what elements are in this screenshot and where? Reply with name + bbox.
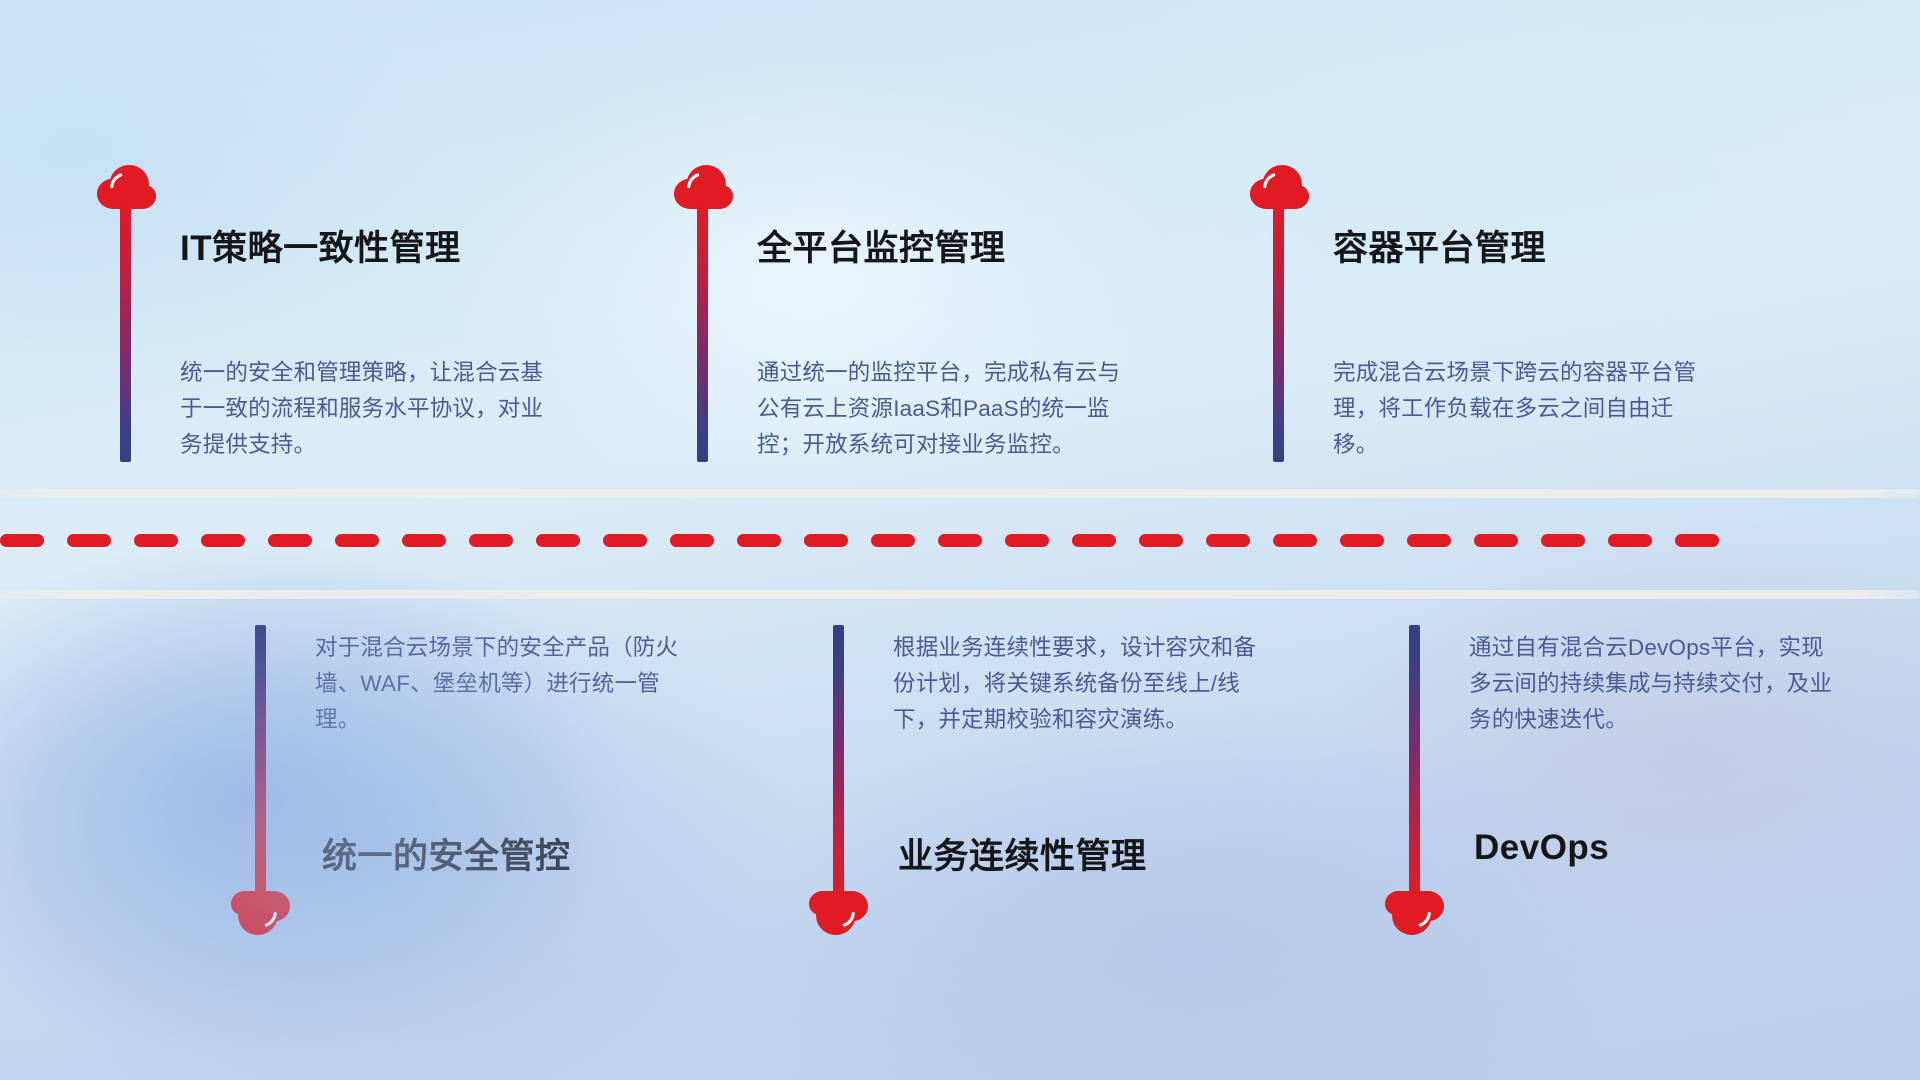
dash-segment: [1608, 534, 1652, 547]
dash-segment: [201, 534, 245, 547]
feature-heading: DevOps: [1474, 828, 1609, 868]
dash-segment: [1273, 534, 1317, 547]
dash-segment: [737, 534, 781, 547]
cloud-icon: [230, 890, 292, 938]
divider-rule-top: [0, 489, 1920, 498]
dash-segment: [670, 534, 714, 547]
cloud-icon: [808, 890, 870, 938]
feature-heading: 全平台监控管理: [757, 220, 1006, 271]
dash-segment: [1474, 534, 1518, 547]
dash-segment: [134, 534, 178, 547]
feature-body: 通过统一的监控平台，完成私有云与公有云上资源IaaS和PaaS的统一监控；开放系…: [757, 355, 1132, 463]
feature-heading: 统一的安全管控: [322, 828, 571, 879]
dash-segment: [1005, 534, 1049, 547]
feature-heading: 容器平台管理: [1333, 220, 1546, 271]
connector-line: [833, 625, 844, 893]
dash-segment: [871, 534, 915, 547]
connector-line: [120, 205, 131, 462]
connector-line: [255, 625, 266, 893]
feature-heading: IT策略一致性管理: [180, 220, 461, 271]
feature-body: 完成混合云场景下跨云的容器平台管理，将工作负载在多云之间自由迁移。: [1333, 355, 1703, 463]
dash-segment: [804, 534, 848, 547]
dash-segment: [402, 534, 446, 547]
connector-line: [1273, 205, 1284, 462]
dash-segment: [0, 534, 44, 547]
cloud-icon: [95, 162, 157, 210]
divider: [0, 489, 1920, 599]
dash-segment: [1407, 534, 1451, 547]
dash-segment: [1675, 534, 1719, 547]
dash-segment: [268, 534, 312, 547]
feature-body: 统一的安全和管理策略，让混合云基于一致的流程和服务水平协议，对业务提供支持。: [180, 355, 550, 463]
feature-body: 对于混合云场景下的安全产品（防火墙、WAF、堡垒机等）进行统一管理。: [315, 630, 685, 738]
connector-line: [697, 205, 708, 462]
divider-rule-bottom: [0, 590, 1920, 599]
dash-segment: [1072, 534, 1116, 547]
dash-segment: [469, 534, 513, 547]
dash-segment: [603, 534, 647, 547]
dash-segment: [67, 534, 111, 547]
cloud-icon: [672, 162, 734, 210]
feature-body: 通过自有混合云DevOps平台，实现多云间的持续集成与持续交付，及业务的快速迭代…: [1469, 630, 1839, 738]
feature-heading: 业务连续性管理: [898, 828, 1147, 879]
dash-segment: [1206, 534, 1250, 547]
dash-segment: [1541, 534, 1585, 547]
connector-line: [1409, 625, 1420, 893]
dash-segment: [536, 534, 580, 547]
dashed-rule: [0, 533, 1920, 547]
dash-segment: [1340, 534, 1384, 547]
dash-segment: [1139, 534, 1183, 547]
cloud-icon: [1384, 890, 1446, 938]
feature-body: 根据业务连续性要求，设计容灾和备份计划，将关键系统备份至线上/线下，并定期校验和…: [893, 630, 1268, 738]
dash-segment: [335, 534, 379, 547]
cloud-icon: [1248, 162, 1310, 210]
dash-segment: [938, 534, 982, 547]
infographic-canvas: IT策略一致性管理 统一的安全和管理策略，让混合云基于一致的流程和服务水平协议，…: [0, 0, 1920, 1080]
